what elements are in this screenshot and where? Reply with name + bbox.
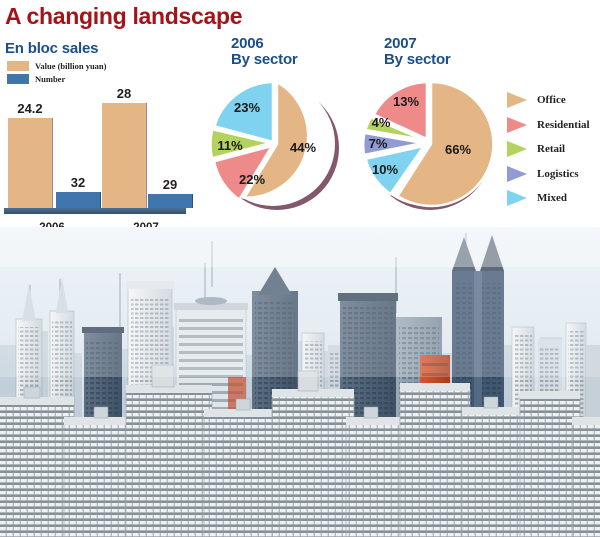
- pie-2006-label-retail: 11%: [217, 138, 243, 153]
- bar-2007-value-fill: [102, 103, 147, 208]
- bar-2006-value-label: 24.2: [17, 101, 42, 116]
- legend-item-number: Number: [7, 73, 107, 84]
- wedge-retail-icon: [505, 140, 529, 158]
- bar-2007-value-label: 28: [117, 86, 131, 101]
- infographic-root: A changing landscape En bloc sales Value…: [0, 0, 600, 537]
- legend-label-value: Value (billion yuan): [35, 61, 107, 71]
- pie-2006-label-residential: 22%: [239, 172, 265, 187]
- legend-label-office: Office: [537, 94, 566, 106]
- pie-2007-label-office: 66%: [445, 142, 471, 157]
- bar-chart-baseline: [4, 208, 186, 214]
- sector-legend: Office Residential Retail Logistics Mixe…: [505, 88, 590, 211]
- bar-2006-number: 32: [56, 192, 100, 208]
- legend-swatch-value-icon: [7, 61, 29, 71]
- pie-2007-label-logistics: 7%: [369, 136, 388, 151]
- page-title: A changing landscape: [5, 2, 242, 30]
- legend-item-residential: Residential: [505, 113, 590, 138]
- bar-chart-heading: En bloc sales: [5, 40, 98, 57]
- legend-swatch-number-icon: [7, 74, 29, 84]
- pie-2007-label-retail: 4%: [372, 115, 391, 130]
- wedge-office-icon: [505, 91, 529, 109]
- pie-2006-svg: 44% 22% 11% 23%: [207, 74, 353, 216]
- legend-label-retail: Retail: [537, 143, 565, 155]
- bar-chart: 24.2 32 28 29 2006 2007: [0, 92, 205, 220]
- cityscape-photo: [0, 227, 600, 537]
- bar-2007-number-fill: [148, 194, 193, 208]
- legend-item-mixed: Mixed: [505, 186, 590, 211]
- pie-2007-svg: 66% 13% 4% 7% 10%: [360, 74, 506, 216]
- bar-2006-value: 24.2: [8, 118, 52, 208]
- bar-2006-value-fill: [8, 118, 53, 208]
- pie-2007-year: 2007: [384, 36, 417, 52]
- pie-2007: 2007 By sector 66% 13% 4% 7% 10%: [366, 36, 506, 214]
- legend-label-number: Number: [35, 74, 65, 84]
- legend-label-logistics: Logistics: [537, 168, 579, 180]
- bar-2007-number: 29: [148, 194, 192, 208]
- pie-2006: 2006 By sector 44% 22% 11% 23%: [213, 36, 353, 214]
- pie-2006-label-office: 44%: [290, 140, 316, 155]
- bar-2007-number-label: 29: [163, 177, 177, 192]
- legend-label-residential: Residential: [537, 119, 590, 131]
- bar-2007-value: 28: [102, 103, 146, 208]
- wedge-residential-icon: [505, 116, 529, 134]
- pie-2007-label-residential: 13%: [393, 94, 419, 109]
- pie-2006-label-mixed: 23%: [234, 100, 260, 115]
- wedge-mixed-icon: [505, 189, 529, 207]
- pie-2006-subtitle: By sector: [231, 52, 298, 68]
- pie-2006-year: 2006: [231, 36, 264, 52]
- legend-item-retail: Retail: [505, 137, 590, 162]
- bar-2006-number-fill: [56, 192, 101, 208]
- pie-2007-subtitle: By sector: [384, 52, 451, 68]
- legend-item-office: Office: [505, 88, 590, 113]
- bar-chart-legend: Value (billion yuan) Number: [7, 60, 107, 86]
- legend-item-logistics: Logistics: [505, 162, 590, 187]
- pie-2007-label-mixed: 10%: [372, 162, 398, 177]
- bar-2006-number-label: 32: [71, 175, 85, 190]
- wedge-logistics-icon: [505, 165, 529, 183]
- legend-item-value: Value (billion yuan): [7, 60, 107, 71]
- cityscape-illustration: [0, 227, 600, 537]
- legend-label-mixed: Mixed: [537, 192, 567, 204]
